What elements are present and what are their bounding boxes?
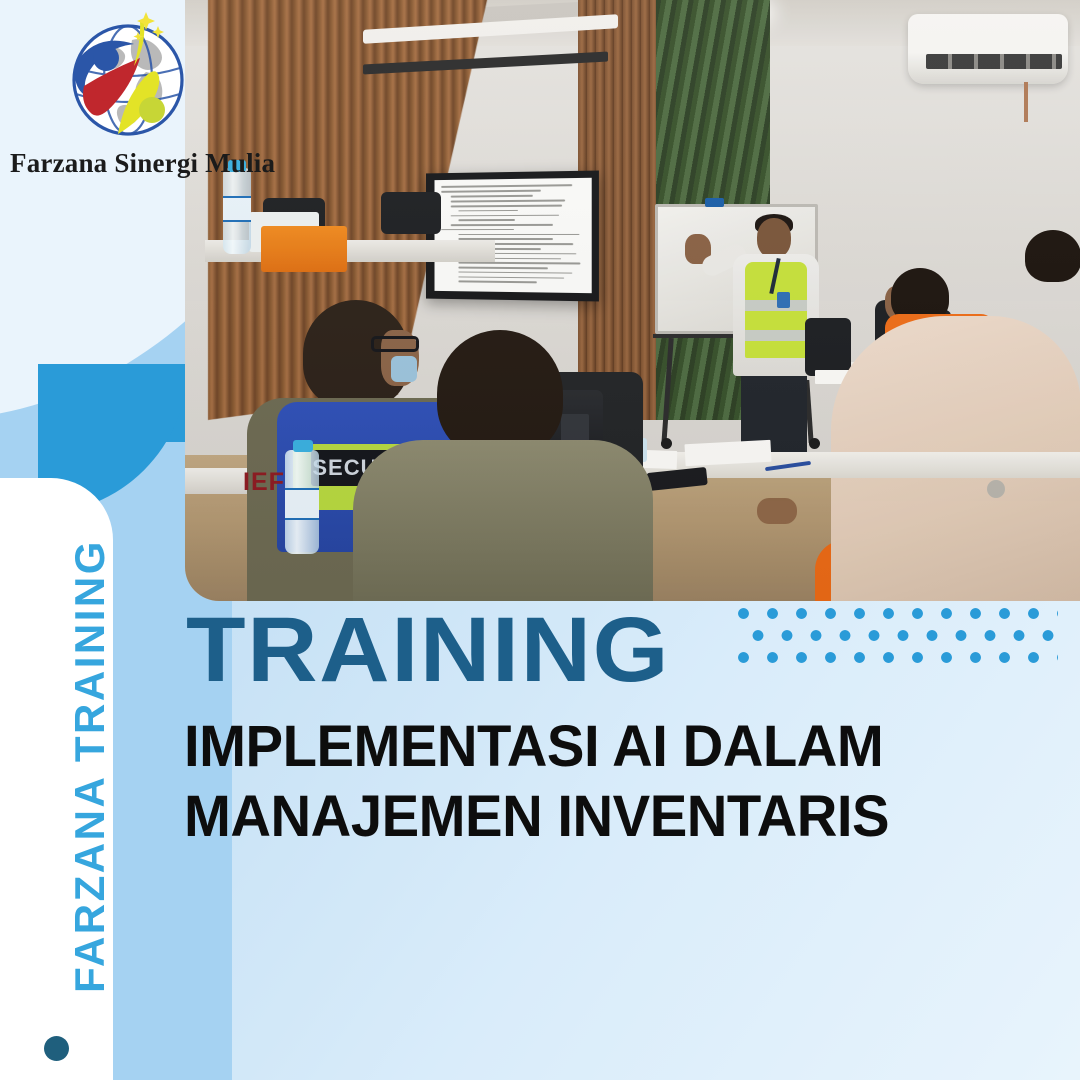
title-line-2: MANAJEMEN INVENTARIS [184, 782, 960, 852]
title-line-1: IMPLEMENTASI AI DALAM [184, 712, 960, 782]
eyeglasses-icon [371, 336, 419, 352]
wall-mounted-tv [426, 171, 599, 302]
snack-box-orange [261, 226, 347, 272]
brand-logo: Farzana Sinergi Mulia [10, 8, 260, 193]
vest-reflective-stripe [745, 330, 807, 341]
whiteboard-wheel-left [661, 438, 672, 449]
bottle-label [223, 196, 251, 222]
vertical-brand-label: FARZANA TRAINING [66, 466, 114, 1066]
company-name: Farzana Sinergi Mulia [10, 148, 260, 179]
participant-jacket-center [353, 440, 653, 601]
hijab-brooch [987, 480, 1005, 498]
ac-vent [926, 54, 1062, 69]
chair [805, 318, 851, 376]
whiteboard-marker [705, 198, 724, 207]
ac-cord [1024, 82, 1028, 122]
presenter-head [757, 218, 791, 258]
page-title: IMPLEMENTASI AI DALAM MANAJEMEN INVENTAR… [184, 712, 960, 852]
dot-grid-decoration [738, 608, 1058, 670]
whiteboard-wheel-right [809, 438, 820, 449]
chair [381, 192, 441, 234]
photo-scene: SECURITY IEF [185, 0, 1080, 601]
id-badge [777, 292, 790, 308]
bottle-label [285, 488, 319, 520]
training-photo: SECURITY IEF [185, 0, 1080, 601]
globe-with-people-logo-icon [58, 10, 198, 150]
participant-head-back-right [1025, 230, 1080, 282]
poster-canvas: SECURITY IEF [0, 0, 1080, 1080]
participant-hand [757, 498, 797, 524]
participant-head-center [437, 330, 563, 458]
page-title-eyebrow: TRAINING [186, 604, 670, 696]
face-mask [391, 356, 417, 382]
air-conditioner-icon [908, 14, 1068, 84]
tv-slide-content [435, 178, 592, 293]
bullet-dot-decoration [44, 1036, 69, 1061]
vest-reflective-stripe [745, 300, 807, 311]
bottle-cap [293, 440, 313, 452]
handout-paper [684, 440, 771, 466]
